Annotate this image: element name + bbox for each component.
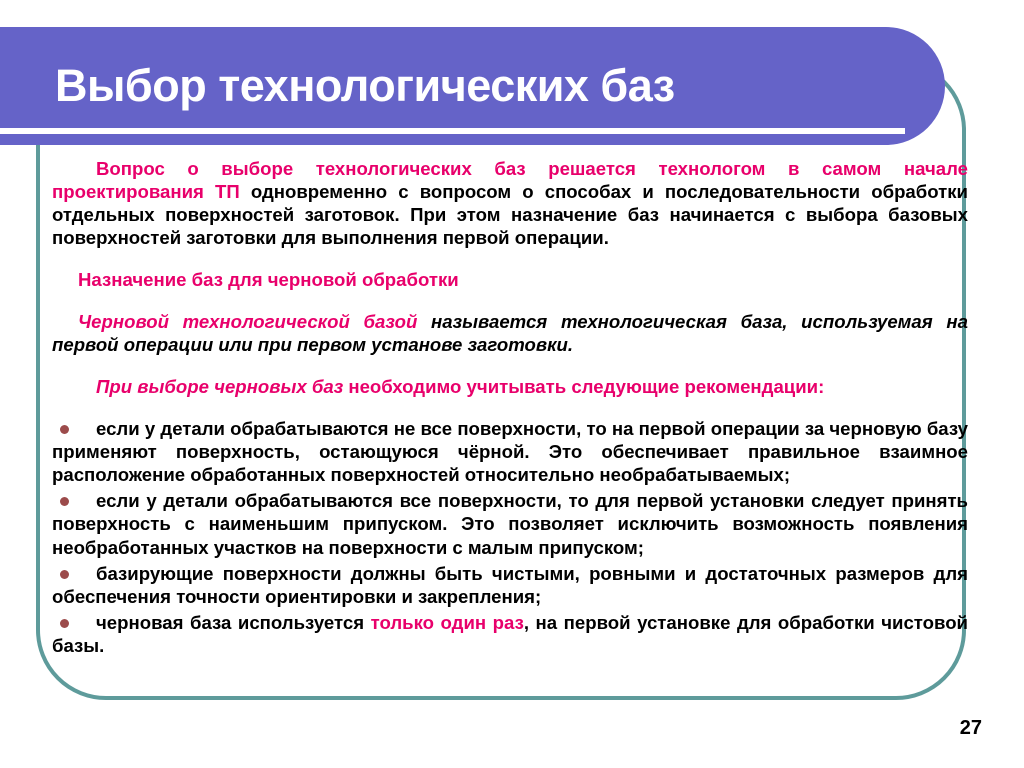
list-item: если у детали обрабатываются все поверхн… [52, 489, 968, 558]
recommendations-lead-emphasis: При выборе черновых баз [96, 376, 343, 397]
slide-body-content: Вопрос о выборе технологических баз реша… [52, 157, 968, 657]
bullet-dot-icon [60, 570, 69, 579]
presentation-slide: Выбор технологических баз Вопрос о выбор… [0, 0, 1024, 768]
paragraph-definition: Черновой технологической базой называетс… [52, 310, 968, 356]
list-item-text: базирующие поверхности должны быть чисты… [52, 562, 968, 608]
bullet-dot-icon [60, 425, 69, 434]
recommendations-bullet-list: если у детали обрабатываются не все пове… [52, 417, 968, 657]
title-underline-stripe [0, 128, 905, 134]
list-item-segment: только один раз [371, 612, 524, 633]
list-item-segment: если у детали обрабатываются все поверхн… [52, 490, 968, 557]
paragraph-recommendations-lead: При выборе черновых баз необходимо учиты… [52, 375, 968, 398]
list-item-text: если у детали обрабатываются не все пове… [52, 417, 968, 486]
list-item-segment: если у детали обрабатываются не все пове… [52, 418, 968, 485]
list-item-segment: базирующие поверхности должны быть чисты… [52, 563, 968, 607]
list-item: черновая база используется только один р… [52, 611, 968, 657]
paragraph-definition-term: Черновой технологической базой [78, 311, 417, 332]
list-item-text: черновая база используется только один р… [52, 611, 968, 657]
subheading-rough-base: Назначение баз для черновой обработки [52, 268, 968, 291]
paragraph-intro: Вопрос о выборе технологических баз реша… [52, 157, 968, 250]
bullet-dot-icon [60, 619, 69, 628]
page-number: 27 [960, 717, 982, 740]
list-item-text: если у детали обрабатываются все поверхн… [52, 489, 968, 558]
recommendations-lead-rest: необходимо учитывать следующие рекоменда… [343, 376, 824, 397]
slide-title-bar: Выбор технологических баз [0, 27, 945, 145]
page-title: Выбор технологических баз [55, 63, 895, 108]
list-item: если у детали обрабатываются не все пове… [52, 417, 968, 486]
list-item: базирующие поверхности должны быть чисты… [52, 562, 968, 608]
list-item-segment: черновая база используется [96, 612, 371, 633]
